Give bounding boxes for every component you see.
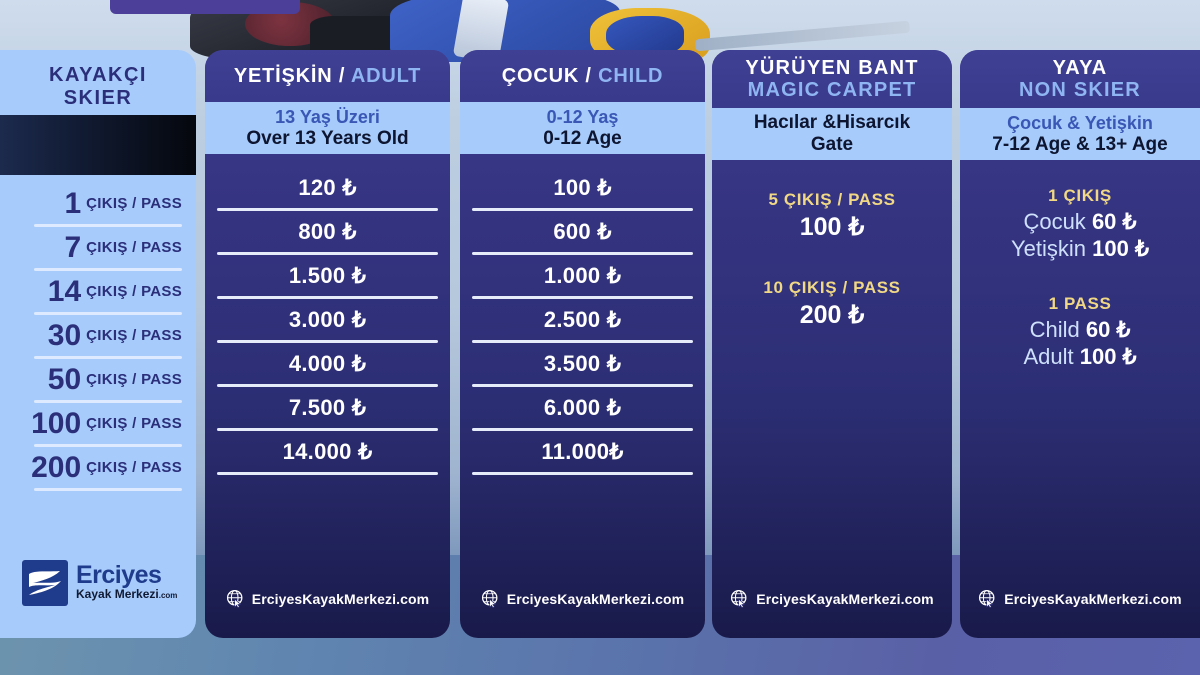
pass-row: 1ÇIKIŞ / PASS (0, 183, 196, 224)
child-age-en: 0-12 Age (543, 128, 622, 150)
price-row: 6.000 ₺ (460, 387, 705, 428)
price-value: 11.000₺ (541, 439, 623, 465)
price-row: 100 ₺ (460, 167, 705, 208)
adult-header-sep: / (333, 65, 351, 87)
non-skier-website-link[interactable]: ErciyesKayakMerkezi.com (960, 589, 1200, 608)
top-banner-strip (110, 0, 300, 14)
price-row: 7.500 ₺ (205, 387, 450, 428)
skier-header-black-band (0, 115, 196, 175)
magic-carpet-gate-line2: Gate (811, 134, 853, 156)
logo-domain-text: .com (159, 591, 178, 600)
globe-icon (730, 589, 749, 608)
offer-price: 200 ₺ (712, 300, 952, 330)
group-label: 1 ÇIKIŞ (960, 184, 1200, 208)
price-row: 120 ₺ (205, 167, 450, 208)
erciyes-logo-text: Erciyes Kayak Merkezi.com (76, 563, 177, 603)
logo-z-glyph-icon (27, 569, 63, 597)
erciyes-logo-mark-icon (22, 560, 68, 606)
erciyes-logo: Erciyes Kayak Merkezi.com (22, 560, 177, 606)
non-skier-website-text: ErciyesKayakMerkezi.com (1004, 591, 1181, 607)
price-row: 4.000 ₺ (205, 343, 450, 384)
child-price-card: ÇOCUK / CHILD 0-12 Yaş 0-12 Age 100 ₺600… (460, 50, 705, 638)
magic-carpet-gate-line1: Hacılar &Hisarcık (754, 112, 910, 134)
non-skier-price-row: Çocuk 60 ₺ (960, 208, 1200, 235)
pass-row: 30ÇIKIŞ / PASS (0, 315, 196, 356)
adult-website-text: ErciyesKayakMerkezi.com (252, 591, 429, 607)
non-skier-amount: 60 ₺ (1092, 209, 1137, 234)
child-age-band: 0-12 Yaş 0-12 Age (460, 102, 705, 154)
price-value: 120 ₺ (298, 175, 356, 201)
price-row: 11.000₺ (460, 431, 705, 472)
pass-row: 14ÇIKIŞ / PASS (0, 271, 196, 312)
skier-column-card: KAYAKÇI SKIER 1ÇIKIŞ / PASS7ÇIKIŞ / PASS… (0, 50, 196, 638)
price-value: 800 ₺ (298, 219, 356, 245)
pass-count: 50 (48, 365, 81, 395)
non-skier-who: Child (1030, 317, 1086, 342)
adult-header-en: ADULT (351, 65, 421, 87)
child-price-list: 100 ₺600 ₺1.000 ₺2.500 ₺3.500 ₺6.000 ₺11… (460, 154, 705, 475)
non-skier-amount: 100 ₺ (1092, 236, 1149, 261)
non-skier-who: Çocuk (1023, 209, 1091, 234)
offer-price: 100 ₺ (712, 212, 952, 242)
pass-count-list: 1ÇIKIŞ / PASS7ÇIKIŞ / PASS14ÇIKIŞ / PASS… (0, 183, 196, 491)
logo-brand-name: Erciyes (76, 563, 177, 587)
pass-count: 200 (31, 453, 81, 483)
child-card-header: ÇOCUK / CHILD (460, 50, 705, 102)
pass-count: 14 (48, 277, 81, 307)
adult-header-tr: YETİŞKİN (234, 65, 333, 87)
pass-label: ÇIKIŞ / PASS (86, 195, 182, 212)
adult-age-band: 13 Yaş Üzeri Over 13 Years Old (205, 102, 450, 154)
non-skier-group-list: 1 ÇIKIŞÇocuk 60 ₺Yetişkin 100 ₺1 PASSChi… (960, 160, 1200, 370)
adult-age-en: Over 13 Years Old (246, 128, 408, 150)
magic-carpet-gate-band: Hacılar &Hisarcık Gate (712, 108, 952, 160)
non-skier-card-header: YAYA NON SKIER (960, 50, 1200, 108)
pass-label: ÇIKIŞ / PASS (86, 327, 182, 344)
adult-age-tr: 13 Yaş Üzeri (275, 107, 380, 128)
logo-brand-sub: Kayak Merkezi.com (76, 587, 177, 603)
adult-price-list: 120 ₺800 ₺1.500 ₺3.000 ₺4.000 ₺7.500 ₺14… (205, 154, 450, 475)
skier-title-en: SKIER (0, 87, 196, 110)
skier-column-title: KAYAKÇI SKIER (0, 50, 196, 110)
child-website-link[interactable]: ErciyesKayakMerkezi.com (460, 589, 705, 608)
magic-carpet-website-link[interactable]: ErciyesKayakMerkezi.com (712, 589, 952, 608)
non-skier-group: 1 ÇIKIŞÇocuk 60 ₺Yetişkin 100 ₺ (960, 184, 1200, 262)
price-value: 100 ₺ (553, 175, 611, 201)
non-skier-age-band: Çocuk & Yetişkin 7-12 Age & 13+ Age (960, 108, 1200, 160)
magic-carpet-offer-list: 5 ÇIKIŞ / PASS100 ₺10 ÇIKIŞ / PASS200 ₺ (712, 160, 952, 330)
price-row: 1.000 ₺ (460, 255, 705, 296)
magic-carpet-card-header: YÜRÜYEN BANT MAGIC CARPET (712, 50, 952, 108)
group-label: 1 PASS (960, 292, 1200, 316)
child-website-text: ErciyesKayakMerkezi.com (507, 591, 684, 607)
magic-carpet-offer: 5 ÇIKIŞ / PASS100 ₺ (712, 188, 952, 242)
pass-count: 30 (48, 321, 81, 351)
price-value: 1.000 ₺ (544, 263, 621, 289)
offer-label: 10 ÇIKIŞ / PASS (712, 276, 952, 300)
child-header-sep: / (579, 65, 598, 87)
pass-row: 7ÇIKIŞ / PASS (0, 227, 196, 268)
non-skier-amount: 100 ₺ (1080, 344, 1137, 369)
price-row: 3.500 ₺ (460, 343, 705, 384)
pass-count: 1 (64, 189, 81, 219)
pass-label: ÇIKIŞ / PASS (86, 371, 182, 388)
non-skier-group: 1 PASSChild 60 ₺Adult 100 ₺ (960, 292, 1200, 370)
row-divider (34, 488, 182, 491)
globe-icon (978, 589, 997, 608)
adult-website-link[interactable]: ErciyesKayakMerkezi.com (205, 589, 450, 608)
magic-carpet-website-text: ErciyesKayakMerkezi.com (756, 591, 933, 607)
price-value: 4.000 ₺ (289, 351, 366, 377)
globe-icon (481, 589, 500, 608)
price-value: 2.500 ₺ (544, 307, 621, 333)
magic-carpet-offer: 10 ÇIKIŞ / PASS200 ₺ (712, 276, 952, 330)
price-value: 1.500 ₺ (289, 263, 366, 289)
non-skier-age-en: 7-12 Age & 13+ Age (992, 134, 1167, 156)
non-skier-amount: 60 ₺ (1086, 317, 1131, 342)
price-value: 600 ₺ (553, 219, 611, 245)
pass-count: 100 (31, 409, 81, 439)
magic-carpet-header-en: MAGIC CARPET (748, 79, 917, 101)
child-header-text: ÇOCUK / CHILD (502, 65, 664, 88)
pass-count: 7 (64, 233, 81, 263)
magic-carpet-header-tr: YÜRÜYEN BANT (745, 57, 918, 79)
child-header-tr: ÇOCUK (502, 65, 579, 87)
pass-label: ÇIKIŞ / PASS (86, 239, 182, 256)
pass-label: ÇIKIŞ / PASS (86, 283, 182, 300)
magic-carpet-card: YÜRÜYEN BANT MAGIC CARPET Hacılar &Hisar… (712, 50, 952, 638)
price-row: 600 ₺ (460, 211, 705, 252)
pricing-board: KAYAKÇI SKIER 1ÇIKIŞ / PASS7ÇIKIŞ / PASS… (0, 0, 1200, 675)
non-skier-age-tr: Çocuk & Yetişkin (1007, 113, 1153, 134)
non-skier-header-tr: YAYA (1053, 57, 1108, 79)
price-row: 2.500 ₺ (460, 299, 705, 340)
logo-sub-text: Kayak Merkezi (76, 587, 159, 601)
price-value: 14.000 ₺ (283, 439, 373, 465)
offer-label: 5 ÇIKIŞ / PASS (712, 188, 952, 212)
price-row: 1.500 ₺ (205, 255, 450, 296)
pass-row: 200ÇIKIŞ / PASS (0, 447, 196, 488)
price-row: 14.000 ₺ (205, 431, 450, 472)
non-skier-price-row: Child 60 ₺ (960, 316, 1200, 343)
globe-icon (226, 589, 245, 608)
non-skier-price-row: Adult 100 ₺ (960, 343, 1200, 370)
adult-price-card: YETİŞKİN / ADULT 13 Yaş Üzeri Over 13 Ye… (205, 50, 450, 638)
price-value: 3.000 ₺ (289, 307, 366, 333)
pass-row: 100ÇIKIŞ / PASS (0, 403, 196, 444)
non-skier-card: YAYA NON SKIER Çocuk & Yetişkin 7-12 Age… (960, 50, 1200, 638)
pass-label: ÇIKIŞ / PASS (86, 459, 182, 476)
skier-title-tr: KAYAKÇI (0, 64, 196, 87)
row-divider (472, 472, 693, 475)
price-value: 6.000 ₺ (544, 395, 621, 421)
non-skier-who: Adult (1023, 344, 1079, 369)
non-skier-price-row: Yetişkin 100 ₺ (960, 235, 1200, 262)
price-row: 3.000 ₺ (205, 299, 450, 340)
pass-label: ÇIKIŞ / PASS (86, 415, 182, 432)
non-skier-who: Yetişkin (1011, 236, 1092, 261)
photo-shape-ski-pole (695, 21, 910, 52)
price-value: 7.500 ₺ (289, 395, 366, 421)
child-header-en: CHILD (598, 65, 663, 87)
price-value: 3.500 ₺ (544, 351, 621, 377)
child-age-tr: 0-12 Yaş (547, 107, 619, 128)
non-skier-header-en: NON SKIER (1019, 79, 1141, 101)
adult-card-header: YETİŞKİN / ADULT (205, 50, 450, 102)
row-divider (217, 472, 438, 475)
adult-header-text: YETİŞKİN / ADULT (234, 65, 421, 88)
price-row: 800 ₺ (205, 211, 450, 252)
pass-row: 50ÇIKIŞ / PASS (0, 359, 196, 400)
